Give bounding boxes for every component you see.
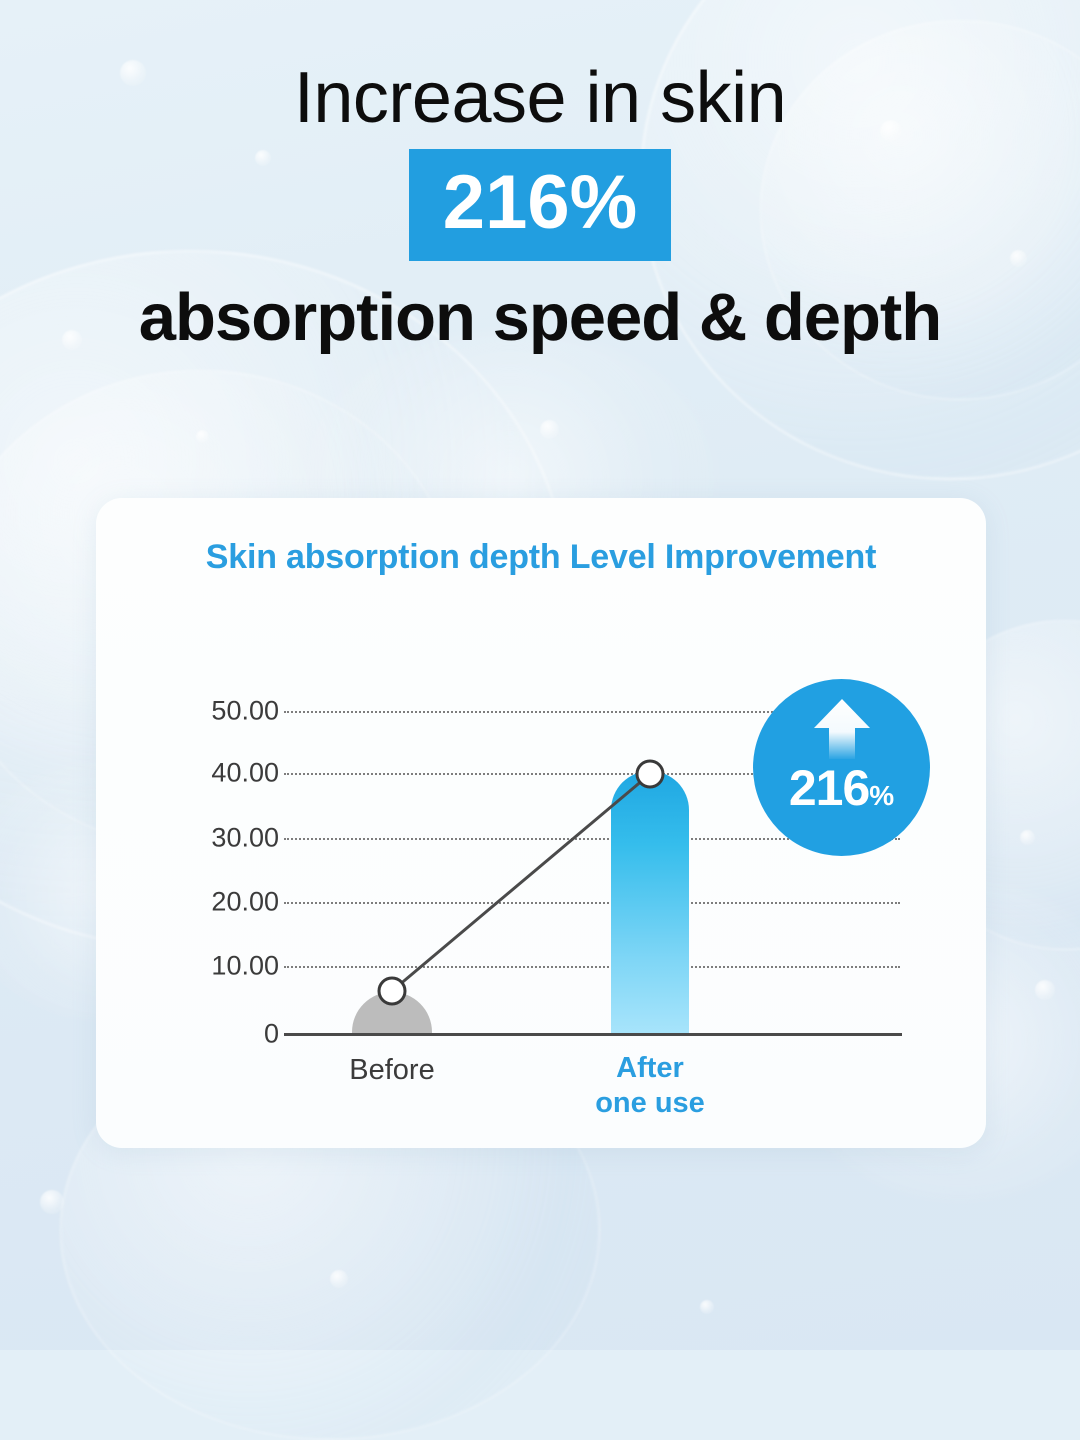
increase-badge: 216% xyxy=(753,679,930,856)
x-label-before: Before xyxy=(312,1054,472,1087)
headline-percent-highlight: 216% xyxy=(409,149,671,261)
chart-plot-area: 50.00 40.00 30.00 20.00 10.00 0 Before A… xyxy=(96,498,986,1148)
increase-badge-value: 216% xyxy=(753,763,930,813)
arrow-up-icon xyxy=(813,699,871,759)
headline-block: Increase in skin 216% absorption speed &… xyxy=(0,62,1080,354)
increase-badge-unit: % xyxy=(869,780,894,811)
trend-line-segment xyxy=(392,774,650,991)
headline-highlight-wrap: 216% xyxy=(0,149,1080,261)
headline-line-1: Increase in skin xyxy=(0,62,1080,135)
chart-card: Skin absorption depth Level Improvement … xyxy=(96,498,986,1148)
headline-line-3: absorption speed & depth xyxy=(0,283,1080,353)
increase-badge-number: 216 xyxy=(789,760,869,816)
x-label-after-one-use: After one use xyxy=(570,1051,730,1122)
marker-before xyxy=(379,978,405,1004)
marker-after-one-use xyxy=(637,761,663,787)
